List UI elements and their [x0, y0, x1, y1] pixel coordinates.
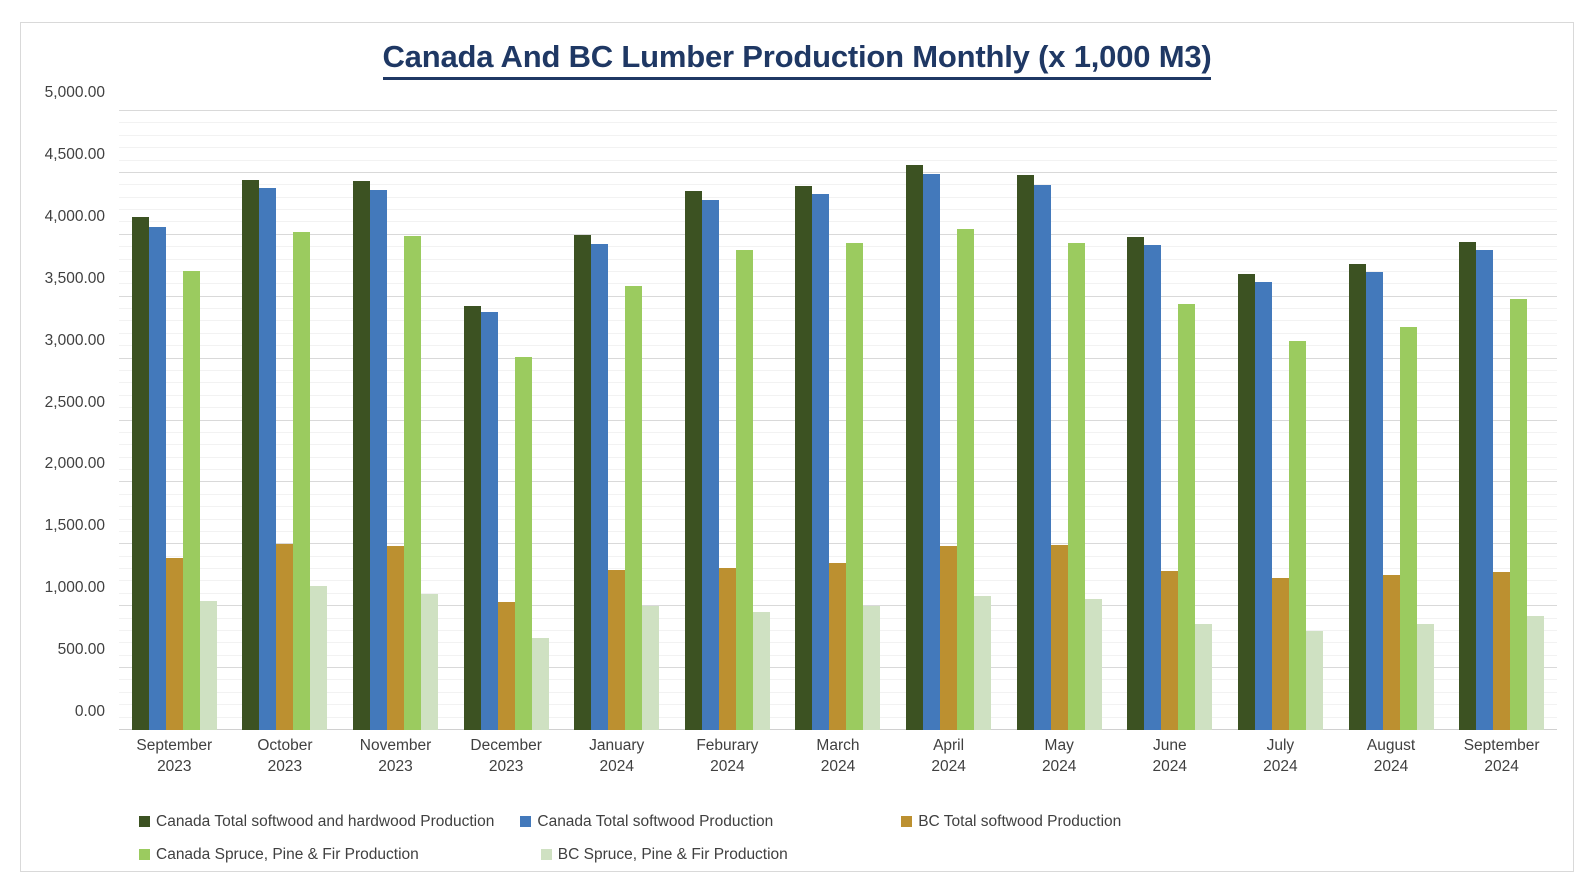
bar-group [672, 111, 783, 730]
x-label-month: April [933, 737, 964, 754]
x-axis-labels: September2023October2023November2023Dece… [119, 736, 1557, 798]
bar[interactable] [957, 229, 974, 730]
legend-swatch-icon [541, 849, 552, 860]
bar[interactable] [642, 606, 659, 730]
bar[interactable] [1068, 243, 1085, 730]
bar[interactable] [940, 546, 957, 730]
legend-item-canada-total-softwood[interactable]: Canada Total softwood Production [520, 813, 773, 831]
bar[interactable] [1127, 237, 1144, 730]
bar[interactable] [132, 217, 149, 730]
bar[interactable] [149, 227, 166, 730]
legend-label: Canada Total softwood and hardwood Produ… [156, 813, 494, 831]
bar[interactable] [1510, 299, 1527, 730]
y-axis-tick-label: 4,500.00 [45, 146, 105, 164]
bar[interactable] [1366, 272, 1383, 730]
bar[interactable] [591, 244, 608, 730]
x-label-month: January [589, 737, 644, 754]
x-axis-tick-label: December2023 [451, 736, 562, 798]
x-axis-tick-label: July2024 [1225, 736, 1336, 798]
x-axis-tick-label: Feburary2024 [672, 736, 783, 798]
bar[interactable] [1178, 304, 1195, 730]
legend-swatch-icon [520, 816, 531, 827]
bar[interactable] [1349, 264, 1366, 730]
x-label-year: 2024 [1004, 757, 1115, 778]
bar[interactable] [1255, 282, 1272, 730]
bar[interactable] [1289, 341, 1306, 730]
bar-group [451, 111, 562, 730]
legend-item-canada-spruce-pine-fir[interactable]: Canada Spruce, Pine & Fir Production [139, 846, 419, 864]
bar[interactable] [1527, 616, 1544, 730]
bar[interactable] [370, 190, 387, 730]
bar[interactable] [1238, 274, 1255, 730]
x-label-month: December [470, 737, 542, 754]
x-label-year: 2023 [340, 757, 451, 778]
y-axis-tick-label: 1,500.00 [45, 517, 105, 535]
x-label-year: 2023 [230, 757, 341, 778]
bar[interactable] [1417, 624, 1434, 730]
bar[interactable] [1383, 575, 1400, 730]
bar[interactable] [608, 570, 625, 730]
y-axis-tick-label: 2,000.00 [45, 455, 105, 473]
x-label-month: July [1267, 737, 1295, 754]
x-axis-tick-label: April2024 [893, 736, 1004, 798]
x-label-month: September [136, 737, 212, 754]
bar[interactable] [293, 232, 310, 730]
bar[interactable] [923, 174, 940, 730]
x-label-month: August [1367, 737, 1415, 754]
x-label-year: 2024 [672, 757, 783, 778]
x-axis-tick-label: January2024 [561, 736, 672, 798]
x-axis-tick-label: August2024 [1336, 736, 1447, 798]
bar[interactable] [846, 243, 863, 730]
x-label-month: October [257, 737, 312, 754]
bar[interactable] [1400, 327, 1417, 730]
bar[interactable] [574, 235, 591, 730]
bar[interactable] [481, 312, 498, 730]
bar[interactable] [183, 271, 200, 730]
bar[interactable] [1459, 242, 1476, 730]
y-axis-tick-label: 5,000.00 [45, 84, 105, 102]
bar[interactable] [515, 357, 532, 730]
x-label-year: 2024 [1225, 757, 1336, 778]
chart-container: Canada And BC Lumber Production Monthly … [20, 22, 1574, 872]
legend-label: BC Spruce, Pine & Fir Production [558, 846, 788, 864]
bar-group [1336, 111, 1447, 730]
x-label-year: 2024 [561, 757, 672, 778]
bar[interactable] [1195, 624, 1212, 730]
x-label-year: 2024 [893, 757, 1004, 778]
x-label-month: June [1153, 737, 1187, 754]
bar[interactable] [310, 586, 327, 730]
legend-swatch-icon [139, 816, 150, 827]
x-axis-tick-label: September2024 [1446, 736, 1557, 798]
bar[interactable] [1051, 545, 1068, 730]
bar[interactable] [685, 191, 702, 730]
x-axis-tick-label: November2023 [340, 736, 451, 798]
bar[interactable] [166, 558, 183, 730]
bar-group [1004, 111, 1115, 730]
chart-title-text: Canada And BC Lumber Production Monthly … [383, 39, 1212, 80]
bar[interactable] [906, 165, 923, 730]
bar[interactable] [1144, 245, 1161, 730]
y-axis-tick-label: 500.00 [58, 641, 105, 659]
bar-group [1225, 111, 1336, 730]
bar[interactable] [829, 563, 846, 730]
bar-group [561, 111, 672, 730]
bar[interactable] [498, 602, 515, 730]
y-axis-tick-label: 2,500.00 [45, 394, 105, 412]
bar[interactable] [812, 194, 829, 730]
bar[interactable] [242, 180, 259, 730]
y-axis-tick-label: 0.00 [75, 703, 105, 721]
x-label-month: March [816, 737, 859, 754]
x-label-month: Feburary [696, 737, 758, 754]
bar[interactable] [974, 596, 991, 730]
x-label-year: 2024 [783, 757, 894, 778]
x-axis-tick-label: May2024 [1004, 736, 1115, 798]
bar[interactable] [387, 546, 404, 730]
x-label-year: 2024 [1446, 757, 1557, 778]
legend-label: Canada Total softwood Production [537, 813, 773, 831]
x-axis-tick-label: June2024 [1114, 736, 1225, 798]
bar[interactable] [1306, 631, 1323, 730]
legend-item-canada-total-softwood-and-hardwood[interactable]: Canada Total softwood and hardwood Produ… [139, 813, 494, 831]
bar[interactable] [736, 250, 753, 730]
chart-title: Canada And BC Lumber Production Monthly … [21, 39, 1573, 75]
legend-item-bc-total-softwood[interactable]: BC Total softwood Production [901, 813, 1121, 831]
bar-group [1114, 111, 1225, 730]
x-label-year: 2024 [1336, 757, 1447, 778]
bar[interactable] [1272, 578, 1289, 730]
bar[interactable] [353, 181, 370, 730]
y-axis-labels: 0.00500.001,000.001,500.002,000.002,500.… [21, 111, 117, 730]
bar[interactable] [795, 186, 812, 730]
x-label-year: 2023 [119, 757, 230, 778]
legend-row-1: Canada Total softwood and hardwood Produ… [119, 805, 1549, 838]
x-label-month: May [1045, 737, 1074, 754]
chart-legend: Canada Total softwood and hardwood Produ… [119, 805, 1549, 871]
x-axis-tick-label: September2023 [119, 736, 230, 798]
bar[interactable] [1476, 250, 1493, 730]
bar[interactable] [464, 306, 481, 730]
bar[interactable] [863, 606, 880, 730]
y-axis-tick-label: 3,000.00 [45, 332, 105, 350]
bar[interactable] [1493, 572, 1510, 730]
bar[interactable] [719, 568, 736, 730]
bar[interactable] [702, 200, 719, 730]
bar[interactable] [625, 286, 642, 730]
plot-area [119, 111, 1557, 730]
bar-group [783, 111, 894, 730]
y-axis-tick-label: 3,500.00 [45, 270, 105, 288]
x-label-year: 2024 [1114, 757, 1225, 778]
x-label-month: November [360, 737, 432, 754]
y-axis-tick-label: 1,000.00 [45, 579, 105, 597]
bar-group [1446, 111, 1557, 730]
bar-group [893, 111, 1004, 730]
bar[interactable] [421, 594, 438, 730]
x-axis-tick-label: March2024 [783, 736, 894, 798]
bar[interactable] [404, 236, 421, 730]
bar-group [230, 111, 341, 730]
bar[interactable] [276, 544, 293, 730]
legend-row-2: Canada Spruce, Pine & Fir Production BC … [119, 838, 1549, 871]
x-label-year: 2023 [451, 757, 562, 778]
legend-item-bc-spruce-pine-fir[interactable]: BC Spruce, Pine & Fir Production [541, 846, 788, 864]
bar[interactable] [200, 601, 217, 730]
bar[interactable] [1085, 599, 1102, 730]
legend-label: Canada Spruce, Pine & Fir Production [156, 846, 419, 864]
bar[interactable] [259, 188, 276, 730]
x-axis-tick-label: October2023 [230, 736, 341, 798]
legend-swatch-icon [139, 849, 150, 860]
bar[interactable] [532, 638, 549, 730]
bar[interactable] [1034, 185, 1051, 730]
x-label-month: September [1464, 737, 1540, 754]
bar-group [119, 111, 230, 730]
bar[interactable] [1161, 571, 1178, 730]
bars-layer [119, 111, 1557, 730]
bar[interactable] [1017, 175, 1034, 730]
legend-label: BC Total softwood Production [918, 813, 1121, 831]
y-axis-tick-label: 4,000.00 [45, 208, 105, 226]
bar-group [340, 111, 451, 730]
legend-swatch-icon [901, 816, 912, 827]
bar[interactable] [753, 612, 770, 730]
